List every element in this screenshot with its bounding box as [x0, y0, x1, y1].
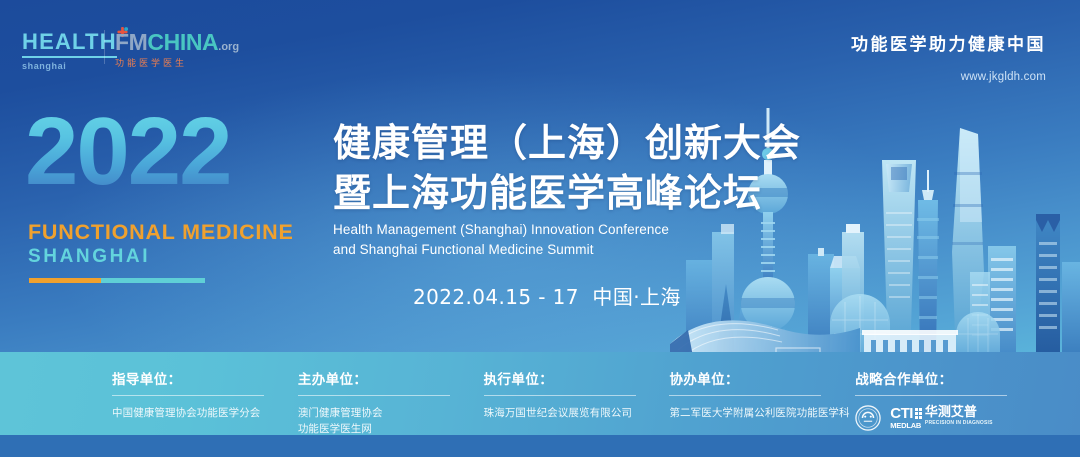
fmchina-logo: FMCHINA.org 功能医学医生	[115, 31, 239, 68]
logo-divider	[104, 30, 105, 64]
organizer-underline	[669, 395, 821, 396]
partners-heading: 战略合作单位：	[855, 368, 1054, 388]
circular-seal-logo-icon	[855, 405, 881, 431]
conference-title-en: Health Management (Shanghai) Innovation …	[333, 220, 669, 261]
conference-title-en-line1: Health Management (Shanghai) Innovation …	[333, 220, 669, 240]
fmchina-logo-sub: 功能医学医生	[115, 59, 239, 68]
header-slogan: 功能医学助力健康中国	[851, 30, 1046, 55]
organizer-body-line: 珠海万国世纪会议展览有限公司	[484, 405, 670, 421]
health-logo-word: HEALTH	[22, 31, 117, 58]
conference-title-en-line2: and Shanghai Functional Medicine Summit	[333, 240, 669, 260]
organizer-column-strategic-partners: 战略合作单位： CTI	[855, 368, 1054, 435]
organizer-body-line: 澳门健康管理协会	[298, 405, 484, 421]
health-logo-sub: shanghai	[22, 62, 117, 71]
conference-title-cn: 健康管理（上海）创新大会 暨上海功能医学高峰论坛	[333, 118, 801, 218]
conference-title-cn-line1: 健康管理（上海）创新大会	[333, 118, 801, 168]
organizer-column-host: 主办单位： 澳门健康管理协会 功能医学医生网	[298, 368, 484, 435]
functional-medicine-label: FUNCTIONAL MEDICINE	[28, 220, 294, 245]
organizer-heading: 协办单位：	[669, 368, 855, 388]
event-date: 2022.04.15 - 17	[413, 285, 579, 309]
footer-bottom-bar	[0, 435, 1080, 457]
organizer-columns: 指导单位： 中国健康管理协会功能医学分会 主办单位： 澳门健康管理协会 功能医学…	[0, 352, 1080, 435]
organizer-body: 中国健康管理协会功能医学分会	[112, 405, 298, 421]
organizer-body-line: 中国健康管理协会功能医学分会	[112, 405, 298, 421]
cti-logo-medlab: MEDLAB	[890, 422, 921, 430]
banner-footer: 指导单位： 中国健康管理协会功能医学分会 主办单位： 澳门健康管理协会 功能医学…	[0, 352, 1080, 457]
banner-header: HEALTH shanghai FMCHINA.org 功能医学医生 功能医学助…	[0, 0, 1080, 92]
organizer-underline	[112, 395, 264, 396]
organizer-body-line: 第二军医大学附属公利医院功能医学科	[669, 405, 855, 421]
cti-medlab-logo: CTI MEDLAB 华测艾普 PRECISION IN DIAGNOSIS	[890, 406, 992, 430]
event-location: 中国·上海	[592, 285, 680, 309]
organizer-underline	[298, 395, 450, 396]
cti-logo-tagline: PRECISION IN DIAGNOSIS	[925, 421, 993, 426]
cti-logo-dots-icon	[915, 408, 922, 419]
event-date-location: 2022.04.15 - 17 中国·上海	[413, 281, 681, 310]
health-shanghai-logo: HEALTH shanghai	[22, 31, 117, 71]
shanghai-label: SHANGHAI	[28, 246, 150, 268]
organizer-body: 第二军医大学附属公利医院功能医学科	[669, 405, 855, 421]
conference-banner: HEALTH shanghai FMCHINA.org 功能医学医生 功能医学助…	[0, 0, 1080, 457]
organizer-heading: 指导单位：	[112, 368, 298, 388]
organizer-column-executor: 执行单位： 珠海万国世纪会议展览有限公司	[484, 368, 670, 435]
conference-title-cn-line2: 暨上海功能医学高峰论坛	[333, 168, 801, 218]
organizer-column-coorganizer: 协办单位： 第二军医大学附属公利医院功能医学科	[669, 368, 855, 435]
organizer-body: 澳门健康管理协会 功能医学医生网	[298, 405, 484, 438]
cti-logo-cn: 华测艾普	[925, 406, 993, 419]
organizer-heading: 主办单位：	[298, 368, 484, 388]
organizer-underline	[484, 395, 636, 396]
organizer-column-guidance: 指导单位： 中国健康管理协会功能医学分会	[112, 368, 298, 435]
organizer-heading: 执行单位：	[484, 368, 670, 388]
cti-logo-main: CTI	[890, 406, 913, 421]
event-year: 2022	[25, 104, 231, 200]
header-website[interactable]: www.jkgldh.com	[961, 71, 1046, 83]
fmchina-logo-part2: CHINA	[147, 29, 218, 55]
organizer-body: 珠海万国世纪会议展览有限公司	[484, 405, 670, 421]
fmchina-logo-part3: .org	[218, 41, 239, 53]
partners-underline	[855, 395, 1007, 396]
accent-rule	[29, 278, 205, 283]
fmchina-logo-part1: FM	[115, 29, 147, 55]
partner-logos: CTI MEDLAB 华测艾普 PRECISION IN DIAGNOSIS	[855, 405, 1054, 431]
